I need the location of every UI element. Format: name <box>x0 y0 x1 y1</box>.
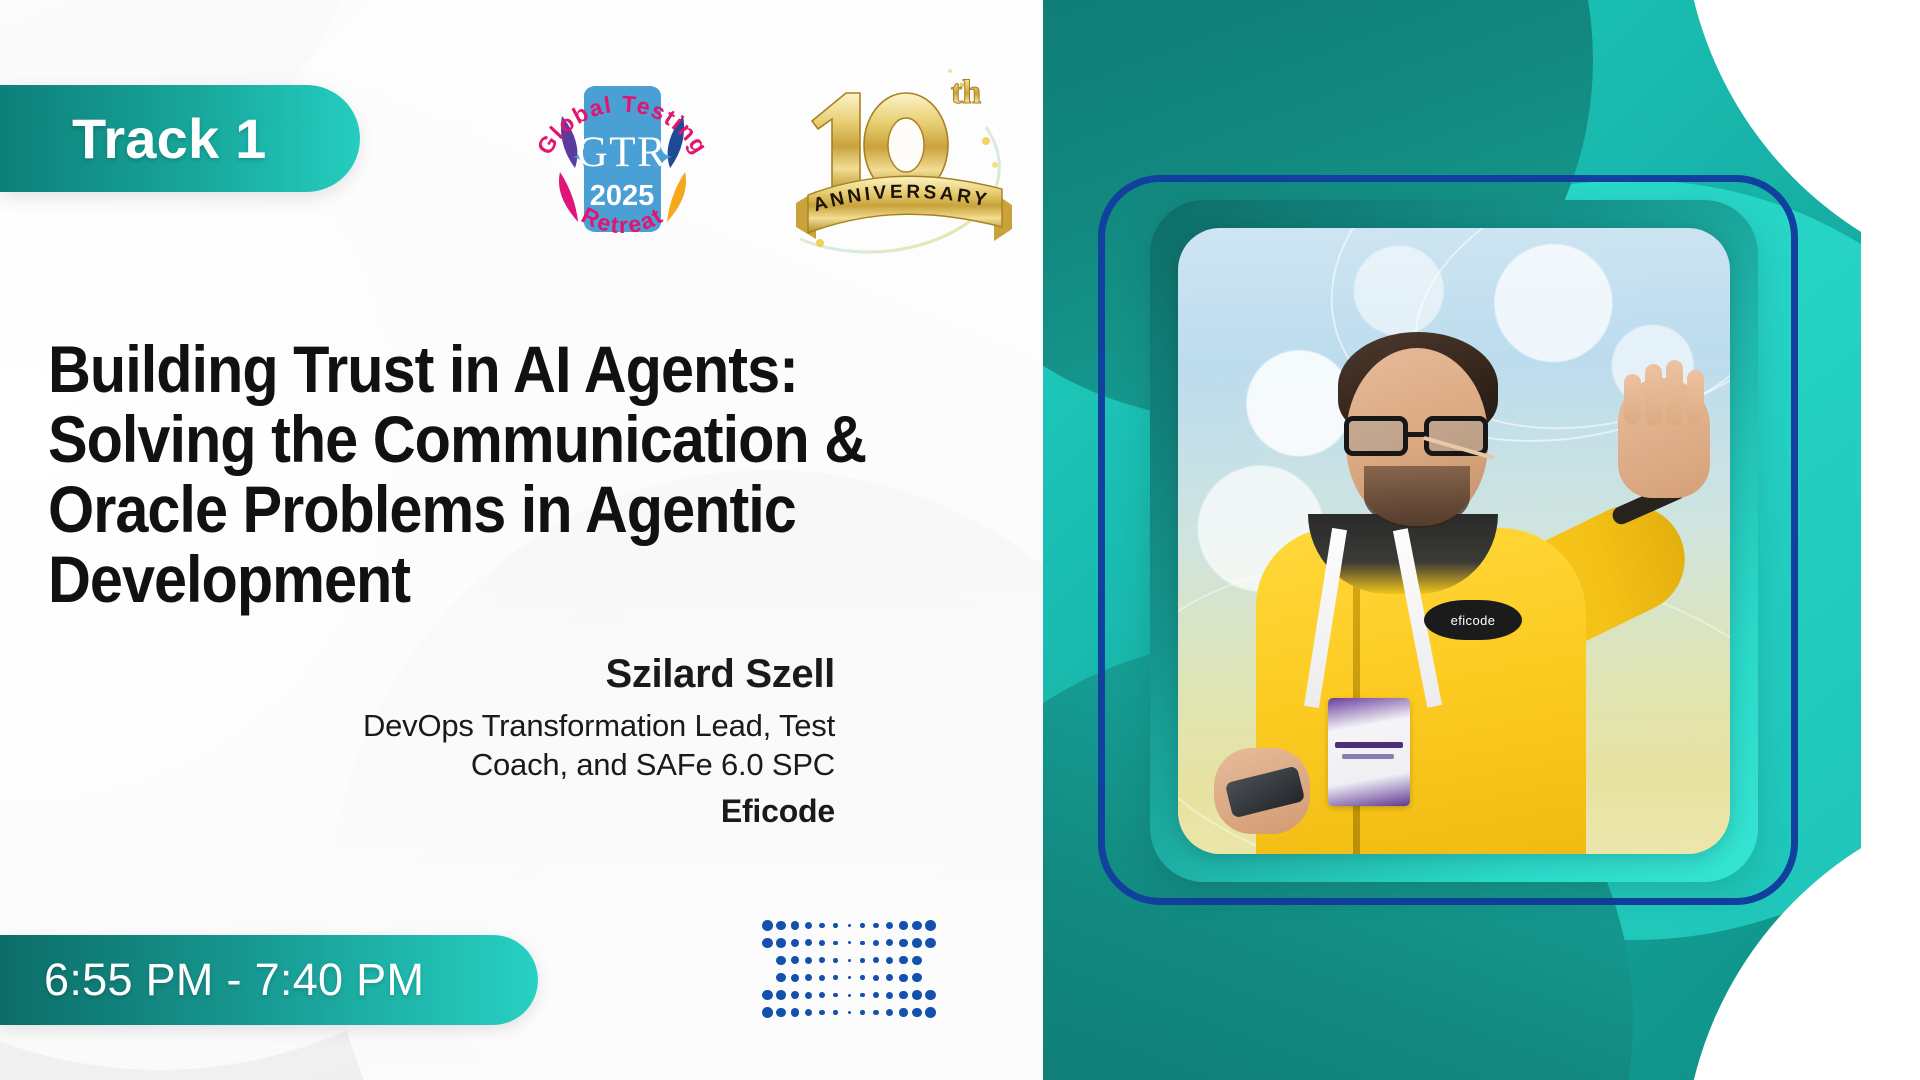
white-right-strip <box>1861 0 1920 1080</box>
grid-dot <box>848 924 851 927</box>
speaker-figure: eficode <box>1178 228 1730 854</box>
grid-dot <box>873 992 879 998</box>
grid-dot <box>912 956 922 966</box>
grid-dot <box>819 940 825 946</box>
session-title: Building Trust in AI Agents: Solving the… <box>48 335 885 615</box>
grid-dot <box>819 992 825 998</box>
anniversary-digit-1 <box>812 93 860 195</box>
grid-dot <box>776 973 786 983</box>
grid-dot <box>925 938 936 949</box>
grid-dot <box>899 921 907 929</box>
grid-dot <box>762 990 773 1001</box>
grid-dot <box>776 956 786 966</box>
grid-dot <box>819 957 825 963</box>
grid-dot <box>873 957 879 963</box>
grid-dot <box>886 939 893 946</box>
grid-dot <box>791 1008 799 1016</box>
dot-grid-decoration <box>762 920 936 1025</box>
speaker-company: Eficode <box>135 793 835 830</box>
grid-dot <box>899 991 907 999</box>
grid-dot <box>873 975 879 981</box>
grid-dot <box>805 957 812 964</box>
grid-dot <box>791 991 799 999</box>
track-badge-label: Track 1 <box>72 106 266 171</box>
speaker-fingers <box>1622 364 1712 434</box>
grid-dot <box>886 992 893 999</box>
grid-dot <box>833 923 837 927</box>
grid-dot <box>912 973 922 983</box>
grid-dot <box>925 1007 936 1018</box>
eficode-hoodie-logo-text: eficode <box>1451 613 1496 628</box>
grid-dot <box>860 975 864 979</box>
grid-dot <box>791 921 799 929</box>
grid-dot <box>833 1010 837 1014</box>
session-title-line: Oracle Problems in Agentic <box>48 475 885 545</box>
grid-dot <box>925 990 936 1001</box>
slide-canvas: eficode Track 1 <box>0 0 1920 1080</box>
grid-dot <box>860 993 864 997</box>
speaker-name: Szilard Szell <box>135 652 835 697</box>
grid-dot <box>873 1010 879 1016</box>
grid-dot <box>819 975 825 981</box>
gtr-2025-logo: GTR 2025 Global Testing Retreat <box>520 50 725 265</box>
grid-dot <box>886 1009 893 1016</box>
speaker-conference-badge <box>1328 698 1410 806</box>
grid-dot <box>805 992 812 999</box>
grid-dot <box>776 921 786 931</box>
grid-dot <box>848 1011 851 1014</box>
grid-dot <box>805 922 812 929</box>
grid-dot <box>886 974 893 981</box>
grid-dot <box>819 923 825 929</box>
session-time-badge[interactable]: 6:55 PM - 7:40 PM <box>0 935 538 1025</box>
grid-dot <box>833 958 837 962</box>
speaker-beard <box>1364 466 1470 528</box>
anniversary-ordinal: th <box>951 74 981 111</box>
grid-dot <box>860 958 864 962</box>
grid-dot <box>805 1009 812 1016</box>
grid-dot <box>791 939 799 947</box>
session-time-label: 6:55 PM - 7:40 PM <box>44 954 424 1006</box>
grid-dot <box>848 941 851 944</box>
grid-dot <box>912 1008 922 1018</box>
grid-dot <box>776 990 786 1000</box>
grid-dot <box>899 939 907 947</box>
gtr-logo-initials: GTR <box>577 129 668 176</box>
grid-dot <box>912 938 922 948</box>
grid-dot <box>860 923 864 927</box>
grid-dot <box>819 1010 825 1016</box>
grid-dot <box>833 993 837 997</box>
grid-dot <box>899 974 907 982</box>
grid-dot <box>762 920 773 931</box>
grid-dot <box>776 1008 786 1018</box>
speaker-role: DevOps Transformation Lead, Test Coach, … <box>135 707 835 785</box>
grid-dot <box>762 1007 773 1018</box>
grid-dot <box>833 975 837 979</box>
eficode-hoodie-logo: eficode <box>1424 600 1522 640</box>
grid-dot <box>848 959 851 962</box>
grid-dot <box>791 974 799 982</box>
speaker-role-line: DevOps Transformation Lead, Test <box>135 707 835 746</box>
grid-dot <box>912 921 922 931</box>
grid-dot <box>912 990 922 1000</box>
grid-dot <box>899 956 907 964</box>
speaker-info: Szilard Szell DevOps Transformation Lead… <box>135 652 835 830</box>
grid-dot <box>848 994 851 997</box>
grid-dot <box>925 920 936 931</box>
grid-dot <box>886 957 893 964</box>
session-title-line: Building Trust in AI Agents: <box>48 335 885 405</box>
speaker-photo: eficode <box>1178 228 1730 854</box>
grid-dot <box>805 974 812 981</box>
grid-dot <box>873 923 879 929</box>
grid-dot <box>791 956 799 964</box>
session-title-line: Solving the Communication & <box>48 405 885 475</box>
grid-dot <box>805 939 812 946</box>
grid-dot <box>860 1010 864 1014</box>
grid-dot <box>762 938 773 949</box>
badge-subtitle-line <box>1342 754 1394 759</box>
grid-dot <box>833 941 837 945</box>
badge-name-line <box>1335 742 1403 748</box>
grid-dot <box>848 976 851 979</box>
speaker-role-line: Coach, and SAFe 6.0 SPC <box>135 746 835 785</box>
grid-dot <box>860 941 864 945</box>
grid-dot <box>873 940 879 946</box>
session-title-line: Development <box>48 545 885 615</box>
anniversary-badge: th ANNIVERSARY <box>790 55 1020 260</box>
track-badge[interactable]: Track 1 <box>0 85 360 192</box>
grid-dot <box>886 922 893 929</box>
grid-dot <box>899 1008 907 1016</box>
grid-dot <box>776 938 786 948</box>
